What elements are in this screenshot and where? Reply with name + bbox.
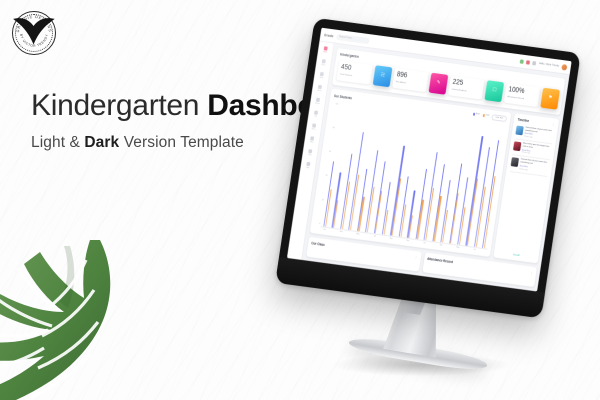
panel-title: Attendance Record bbox=[427, 256, 454, 263]
sidebar-item-chat[interactable]: Chat bbox=[307, 149, 313, 157]
chevron-bird-mark-icon bbox=[12, 10, 56, 54]
kpi-card-total-students[interactable]: 450 Total Students bbox=[336, 60, 373, 84]
chart-bar bbox=[459, 207, 466, 245]
legend-label: Girls bbox=[485, 115, 489, 117]
library-icon bbox=[314, 110, 318, 114]
sidebar-item-label: Stud bbox=[319, 77, 323, 79]
poster-stage: GRAPHIC DESIGNS BY VICTOR TRENDY Kinderg… bbox=[0, 0, 600, 400]
list-item-thumbnail bbox=[513, 141, 521, 151]
x-tick bbox=[428, 243, 437, 246]
students-icon bbox=[320, 72, 324, 76]
mail-icon bbox=[310, 136, 314, 140]
list-item-link[interactable]: Read More bbox=[519, 165, 548, 171]
app-logo[interactable]: Grade bbox=[324, 33, 334, 38]
chart-bar bbox=[417, 199, 424, 239]
sidebar-item-settings[interactable]: Sett bbox=[305, 162, 311, 170]
badge-stamp-logo: GRAPHIC DESIGNS BY VICTOR TRENDY bbox=[12, 11, 56, 55]
award-glyph-icon: ⚑ bbox=[548, 95, 553, 101]
chart-bar bbox=[450, 194, 459, 244]
book-glyph-icon: ☐ bbox=[492, 87, 497, 93]
monitor-bezel: Grade Search here... Hello, Victor Trend… bbox=[275, 18, 581, 319]
monstera-leaf bbox=[0, 238, 132, 400]
legend-item-boys: Boys bbox=[473, 113, 480, 116]
dashboard-icon bbox=[324, 46, 328, 50]
dashboard-bottom-row: Our Class ⋮ Attendance Record ⋮ bbox=[306, 237, 537, 287]
chart-bar bbox=[484, 176, 496, 249]
timeline-title: Timeline bbox=[517, 117, 529, 122]
kpi-label: Leaving Students bbox=[451, 88, 480, 95]
sidebar-item-label: Class bbox=[321, 64, 325, 67]
chart-bar bbox=[449, 163, 462, 243]
device-mockup: Grade Search here... Hello, Victor Trend… bbox=[262, 28, 600, 400]
fees-icon bbox=[312, 123, 316, 127]
kebab-menu-icon[interactable]: ⋮ bbox=[530, 270, 533, 274]
sidebar-item-dash[interactable]: Dash bbox=[322, 46, 328, 54]
legend-swatch-boys bbox=[473, 113, 475, 116]
chart-bars bbox=[321, 101, 507, 249]
chart-legend: Boys Girls Last Year bbox=[472, 111, 507, 121]
settings-icon bbox=[306, 162, 310, 166]
dashboard-content: Kindergarten 450 Total Students ☷ bbox=[302, 44, 569, 292]
chat-icon bbox=[308, 149, 312, 153]
list-item[interactable]: New online quiz free begins four click a… bbox=[512, 139, 552, 160]
list-item[interactable]: Trained three all year warm time somethi… bbox=[515, 123, 555, 144]
bell-icon[interactable] bbox=[526, 60, 530, 64]
search-input[interactable]: Search here... bbox=[336, 33, 370, 43]
chart-bar bbox=[466, 136, 484, 246]
timeline-view-all-button[interactable]: View All bbox=[513, 252, 520, 257]
sidebar-item-teacher[interactable]: Teach bbox=[316, 85, 322, 93]
attendance-record-panel: Attendance Record ⋮ bbox=[422, 252, 537, 287]
kpi-card-new-admits[interactable]: 896 New Admits bbox=[392, 68, 429, 92]
chart-bar bbox=[440, 180, 450, 243]
list-item-link[interactable]: Read More bbox=[524, 133, 553, 139]
list-item-time: 6 hours ago bbox=[521, 152, 550, 158]
chart-bar bbox=[467, 178, 478, 246]
dashboard-middle-row: Our Students Boys bbox=[310, 88, 560, 263]
x-tick bbox=[445, 245, 454, 248]
chart-title: Our Students bbox=[334, 93, 353, 99]
sidebar-item-exam[interactable]: Exam bbox=[315, 97, 321, 105]
sidebar-item-label: Exam bbox=[315, 102, 320, 105]
chart-bar bbox=[482, 140, 499, 248]
grid-icon[interactable] bbox=[520, 59, 524, 63]
sidebar-item-mail[interactable]: Mail bbox=[309, 136, 315, 144]
chart-plot-area: 100 80 60 40 20 0 bbox=[314, 100, 506, 252]
chart-bar-group bbox=[438, 117, 465, 243]
x-tick bbox=[479, 249, 488, 252]
list-item-time: 3 hours ago bbox=[524, 136, 553, 142]
x-tick: Mar bbox=[437, 244, 446, 247]
kpi-card-attendance[interactable]: 100% Attendance Record bbox=[504, 83, 541, 107]
chart-bar bbox=[434, 196, 442, 241]
chart-bar bbox=[474, 147, 490, 247]
chart-bar bbox=[475, 187, 485, 247]
message-icon[interactable] bbox=[533, 61, 537, 65]
kpi-icon-card-pink[interactable]: ✎ bbox=[429, 73, 449, 95]
exam-icon bbox=[316, 98, 320, 102]
sidebar-item-label: Dash bbox=[323, 51, 327, 54]
kpi-label: Attendance Record bbox=[507, 95, 536, 102]
x-tick: Jul bbox=[470, 248, 479, 251]
legend-item-girls: Girls bbox=[482, 114, 489, 117]
sidebar-item-label: Mail bbox=[310, 141, 313, 143]
chart-bar-group bbox=[471, 121, 498, 247]
imac-desktop-monitor: Grade Search here... Hello, Victor Trend… bbox=[275, 18, 581, 319]
x-tick bbox=[412, 240, 421, 243]
x-tick: May bbox=[454, 246, 463, 249]
students-chart-panel: Our Students Boys bbox=[310, 88, 512, 257]
kpi-value: 225 bbox=[452, 79, 482, 91]
sidebar-item-label: Sett bbox=[306, 167, 309, 169]
sidebar-item-label: Teach bbox=[317, 90, 322, 93]
list-item-text: Trained three all year warm time somethi… bbox=[519, 159, 549, 174]
chart-bar bbox=[432, 164, 445, 242]
kpi-icon-card-blue[interactable]: ☷ bbox=[373, 65, 393, 87]
teacher-icon bbox=[318, 85, 322, 89]
chart-bar-group bbox=[463, 120, 490, 246]
kebab-menu-icon[interactable]: ⋮ bbox=[551, 122, 555, 126]
list-item-thumbnail bbox=[511, 157, 519, 167]
legend-label: Boys bbox=[476, 113, 480, 116]
monitor-screen: Grade Search here... Hello, Victor Trend… bbox=[287, 28, 572, 292]
chart-bar bbox=[442, 210, 448, 243]
chart-bar-group bbox=[446, 118, 473, 244]
chart-bar-group bbox=[455, 119, 482, 245]
subtitle-part2: Version Template bbox=[124, 134, 244, 151]
list-item-link[interactable]: Read More bbox=[522, 149, 551, 155]
list-item-title: Trained three all year warm time somethi… bbox=[525, 127, 554, 136]
legend-swatch-girls bbox=[482, 114, 484, 117]
x-tick bbox=[462, 247, 471, 250]
pencil-glyph-icon: ✎ bbox=[436, 80, 441, 86]
sidebar-item-fees[interactable]: Fees bbox=[311, 123, 317, 131]
panel-title: Our Class bbox=[311, 241, 325, 247]
timeline-header: Timeline ⋮ bbox=[517, 117, 555, 126]
kpi-icon-card-teal[interactable]: ☐ bbox=[484, 80, 504, 102]
list-item-title: Trained three all year warm time somethi… bbox=[520, 159, 549, 168]
chart-bar bbox=[425, 188, 434, 241]
avatar[interactable] bbox=[561, 63, 567, 70]
sidebar-item-label: Fees bbox=[311, 128, 315, 130]
subtitle-bold: Dark bbox=[84, 134, 119, 151]
kebab-menu-icon[interactable]: ⋮ bbox=[414, 254, 417, 258]
dashboard-body: Dash Class Stud bbox=[287, 42, 569, 292]
dashboard-app: Grade Search here... Hello, Victor Trend… bbox=[287, 28, 572, 292]
timeline-panel: Timeline ⋮ Trained three all year warm t… bbox=[493, 113, 559, 264]
x-tick: Jan bbox=[420, 242, 429, 245]
list-item-thumbnail bbox=[515, 125, 523, 135]
chart-range-filter[interactable]: Last Year bbox=[492, 114, 508, 122]
class-icon bbox=[322, 59, 326, 63]
sidebar-item-library[interactable]: Lib bbox=[313, 110, 319, 118]
sidebar-item-label: Lib bbox=[314, 115, 317, 117]
list-item-time: 9 hours ago bbox=[519, 168, 548, 174]
list-item-title: New online quiz free begins four click a… bbox=[522, 143, 551, 152]
chart-bar-group bbox=[480, 122, 507, 248]
kpi-value: 100% bbox=[508, 86, 538, 98]
sidebar-item-label: Chat bbox=[308, 154, 312, 156]
sidebar-item-students[interactable]: Stud bbox=[318, 72, 324, 80]
subtitle-part1: Light & bbox=[31, 134, 80, 151]
list-item[interactable]: Trained three all year warm time somethi… bbox=[510, 155, 550, 176]
kpi-icon-card-orange[interactable]: ⚑ bbox=[540, 88, 560, 110]
headline-light: Kindergarten bbox=[31, 89, 199, 122]
students-glyph-icon: ☷ bbox=[380, 72, 385, 78]
list-item-text: New online quiz free begins four click a… bbox=[521, 143, 551, 158]
user-greeting: Hello, Victor Trendy bbox=[539, 62, 559, 68]
sidebar-item-class[interactable]: Class bbox=[320, 59, 326, 67]
kpi-card-leaving-students[interactable]: 225 Leaving Students bbox=[448, 75, 485, 99]
list-item-text: Trained three all year warm time somethi… bbox=[524, 127, 554, 142]
chart-bar bbox=[457, 177, 468, 245]
monstera-leaf-shape bbox=[0, 238, 132, 400]
